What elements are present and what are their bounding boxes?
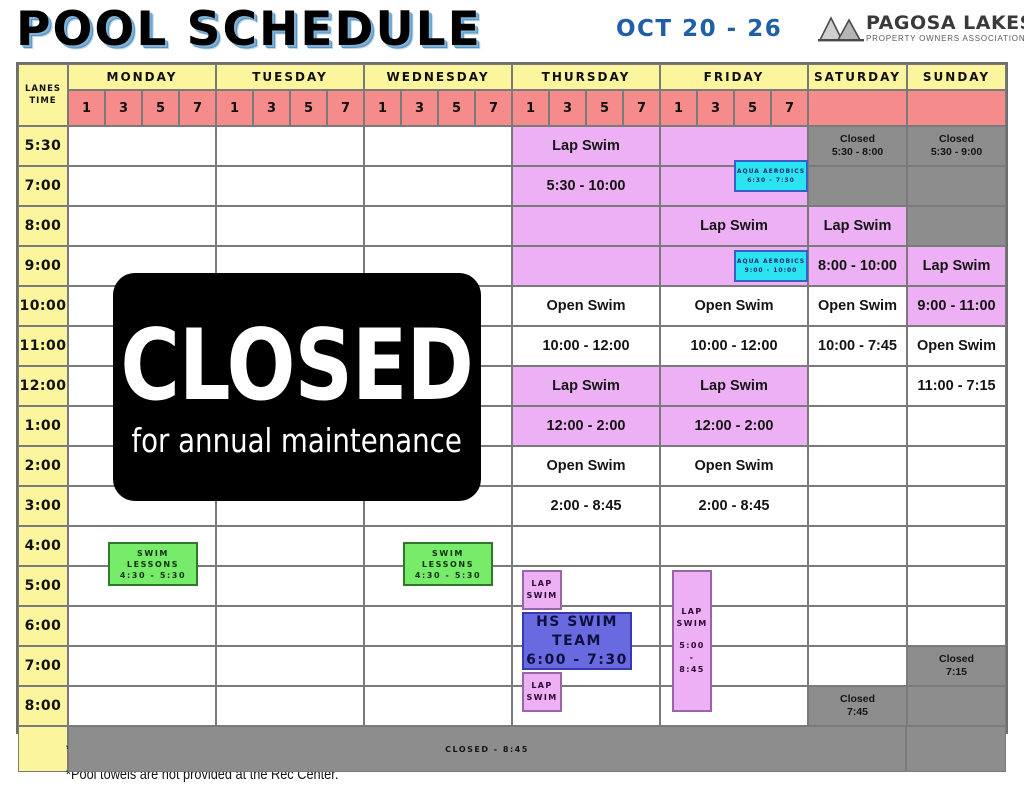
event-lap-swim-friday-evening[interactable]: LAP SWIM 5:00 - 8:45 — [672, 570, 712, 712]
closed-subtitle: for annual maintenance — [132, 422, 462, 460]
saturday-closed-am-label: Closed — [832, 133, 883, 146]
thursday-open-swim-time: 10:00 - 12:00 — [542, 338, 629, 354]
friday-lap-noon-label: Lap Swim — [700, 378, 768, 394]
day-header-friday: FRIDAY — [660, 64, 808, 90]
day-header-tuesday: TUESDAY — [216, 64, 364, 90]
time-label-spacer — [18, 726, 68, 772]
cell-friday-0100[interactable]: 12:00 - 2:00 — [660, 406, 808, 446]
sunday-closed-pm-label: Closed — [939, 653, 974, 666]
time-label-1: 7:00 — [18, 166, 68, 206]
cell-tuesday-0600[interactable] — [216, 606, 364, 646]
thursday-lap-swim-time: 5:30 - 10:00 — [547, 178, 626, 194]
fri-lap-evening-line1: LAP — [681, 606, 702, 618]
sunday-lap-swim-label: Lap Swim — [923, 258, 991, 274]
lane-monday-3: 3 — [105, 90, 142, 126]
corner-label-lanes: LANES — [25, 83, 61, 95]
cell-wednesday-0700pm[interactable] — [364, 646, 512, 686]
lane-wednesday-7: 7 — [475, 90, 512, 126]
lane-tuesday-5: 5 — [290, 90, 327, 126]
lane-friday-5: 5 — [734, 90, 771, 126]
cell-thursday-0700[interactable]: 5:30 - 10:00 — [512, 166, 660, 206]
cell-wednesday-0600[interactable] — [364, 606, 512, 646]
lane-thursday-1: 1 — [512, 90, 549, 126]
cell-sunday-0700pm[interactable]: Closed 7:15 — [907, 646, 1006, 686]
cell-sunday-0400[interactable] — [907, 526, 1006, 566]
cell-sunday-0200[interactable] — [907, 446, 1006, 486]
cell-wednesday-0800[interactable] — [364, 206, 512, 246]
event-swim-lessons-monday[interactable]: SWIM LESSONS 4:30 - 5:30 — [108, 542, 198, 586]
time-label-11: 5:00 — [18, 566, 68, 606]
saturday-open-swim-label: Open Swim — [818, 298, 897, 314]
lanes-time-corner: LANES TIME — [18, 64, 68, 126]
cell-saturday-0200[interactable] — [808, 446, 907, 486]
cell-sunday-0600[interactable] — [907, 606, 1006, 646]
lane-monday-7: 7 — [179, 90, 216, 126]
cell-saturday-0530[interactable]: Closed 5:30 - 8:00 — [808, 126, 907, 166]
sunday-open-swim-time: 11:00 - 7:15 — [917, 378, 995, 394]
cell-sunday-1200[interactable]: 11:00 - 7:15 — [907, 366, 1006, 406]
cell-sunday-0800[interactable] — [907, 206, 1006, 246]
cell-sunday-0800pm[interactable] — [907, 686, 1006, 726]
lane-wednesday-1: 1 — [364, 90, 401, 126]
swim-lessons-mon-line1: SWIM — [137, 548, 169, 559]
thursday-lap-noon-time: 12:00 - 2:00 — [547, 418, 626, 434]
cell-saturday-0700[interactable] — [808, 166, 907, 206]
closed-for-maintenance-banner: CLOSED for annual maintenance — [113, 273, 481, 501]
friday-open-swim-time: 10:00 - 12:00 — [690, 338, 777, 354]
lane-tuesday-1: 1 — [216, 90, 253, 126]
fri-lap-evening-time-start: 5:00 — [679, 640, 705, 652]
thu-lap-early-line2: SWIM — [526, 590, 557, 602]
sunday-lap-swim-time: 9:00 - 11:00 — [917, 298, 995, 314]
friday-open-pm-time: 2:00 - 8:45 — [699, 498, 770, 514]
lane-tuesday-7: 7 — [327, 90, 364, 126]
cell-friday-0200[interactable]: Open Swim — [660, 446, 808, 486]
cell-friday-1200[interactable]: Lap Swim — [660, 366, 808, 406]
swim-lessons-wed-line1: SWIM — [432, 548, 464, 559]
cell-sunday-0300[interactable] — [907, 486, 1006, 526]
swim-lessons-mon-line2: LESSONS — [127, 559, 179, 570]
lane-saturday-none — [808, 90, 907, 126]
page-header: POOL SCHEDULE OCT 20 - 26 PAGOSA LAKES P… — [0, 0, 1024, 62]
time-label-5: 11:00 — [18, 326, 68, 366]
hs-swim-team-time: 6:00 - 7:30 — [526, 651, 628, 670]
fri-lap-evening-time-end: 8:45 — [679, 664, 705, 676]
day-header-saturday: SATURDAY — [808, 64, 907, 90]
cell-monday-0800pm[interactable] — [68, 686, 216, 726]
thursday-lap-swim-label: Lap Swim — [552, 138, 620, 154]
cell-sunday-0530[interactable]: Closed 5:30 - 9:00 — [907, 126, 1006, 166]
day-header-monday: MONDAY — [68, 64, 216, 90]
cell-thursday-0400[interactable] — [512, 526, 660, 566]
cell-saturday-0800pm[interactable]: Closed 7:45 — [808, 686, 907, 726]
time-label-9: 3:00 — [18, 486, 68, 526]
cell-tuesday-0400[interactable] — [216, 526, 364, 566]
hs-swim-team-line1: HS SWIM — [536, 613, 618, 632]
cell-saturday-0500[interactable] — [808, 566, 907, 606]
aqua-aerobics-1-time: 6:30 - 7:30 — [747, 176, 795, 185]
cell-tuesday-0700[interactable] — [216, 166, 364, 206]
thu-lap-late-line1: LAP — [531, 680, 552, 692]
cell-thursday-0100[interactable]: 12:00 - 2:00 — [512, 406, 660, 446]
cell-tuesday-0700pm[interactable] — [216, 646, 364, 686]
closed-bar: CLOSED - 8:45 — [68, 726, 906, 772]
swim-lessons-wed-time: 4:30 - 5:30 — [415, 570, 481, 581]
lane-monday-1: 1 — [68, 90, 105, 126]
cell-sunday-1100[interactable]: Open Swim — [907, 326, 1006, 366]
cell-sunday-0900[interactable]: Lap Swim — [907, 246, 1006, 286]
cell-wednesday-0700[interactable] — [364, 166, 512, 206]
fri-lap-evening-line2: SWIM — [676, 618, 707, 630]
time-label-6: 12:00 — [18, 366, 68, 406]
sunday-closed-am-time: 5:30 - 9:00 — [931, 146, 982, 159]
aqua-aerobics-1-title: AQUA AEROBICS — [737, 167, 805, 176]
cell-saturday-0400[interactable] — [808, 526, 907, 566]
closed-headline: CLOSED — [121, 314, 474, 418]
time-label-0: 5:30 — [18, 126, 68, 166]
time-label-3: 9:00 — [18, 246, 68, 286]
time-label-8: 2:00 — [18, 446, 68, 486]
cell-friday-0400[interactable] — [660, 526, 808, 566]
logo-main-text: PAGOSA LAKES — [866, 12, 1016, 34]
thursday-open-pm-time: 2:00 - 8:45 — [551, 498, 622, 514]
cell-wednesday-0530[interactable] — [364, 126, 512, 166]
mountains-icon — [818, 14, 864, 42]
event-aqua-aerobics-friday-morning[interactable]: AQUA AEROBICS 6:30 - 7:30 — [734, 160, 808, 192]
cell-thursday-0530[interactable]: Lap Swim — [512, 126, 660, 166]
cell-friday-0800[interactable]: Lap Swim — [660, 206, 808, 246]
cell-saturday-0600[interactable] — [808, 606, 907, 646]
friday-lap-swim-label: Lap Swim — [700, 218, 768, 234]
lane-wednesday-3: 3 — [401, 90, 438, 126]
cell-thursday-1000[interactable]: Open Swim — [512, 286, 660, 326]
cell-saturday-0900[interactable]: 8:00 - 10:00 — [808, 246, 907, 286]
logo-text: PAGOSA LAKES PROPERTY OWNERS ASSOCIATION — [866, 12, 1016, 44]
cell-saturday-0800[interactable]: Lap Swim — [808, 206, 907, 246]
corner-label-time: TIME — [29, 95, 56, 107]
cell-saturday-1000[interactable]: Open Swim — [808, 286, 907, 326]
lane-friday-1: 1 — [660, 90, 697, 126]
cell-saturday-0100[interactable] — [808, 406, 907, 446]
lane-thursday-3: 3 — [549, 90, 586, 126]
cell-thursday-0800[interactable] — [512, 206, 660, 246]
saturday-closed-pm-time: 7:45 — [840, 706, 875, 719]
lane-sunday-none — [907, 90, 1006, 126]
cell-saturday-0300[interactable] — [808, 486, 907, 526]
time-label-2: 8:00 — [18, 206, 68, 246]
day-header-wednesday: WEDNESDAY — [364, 64, 512, 90]
saturday-open-swim-time: 10:00 - 7:45 — [818, 338, 897, 354]
aqua-aerobics-2-title: AQUA AEROBICS — [737, 257, 805, 266]
hs-swim-team-line2: TEAM — [552, 632, 602, 651]
cell-friday-1100[interactable]: 10:00 - 12:00 — [660, 326, 808, 366]
date-range: OCT 20 - 26 — [616, 16, 782, 42]
swim-lessons-mon-time: 4:30 - 5:30 — [120, 570, 186, 581]
aqua-aerobics-2-time: 9:00 - 10:00 — [745, 266, 798, 275]
event-swim-lessons-wednesday[interactable]: SWIM LESSONS 4:30 - 5:30 — [403, 542, 493, 586]
cell-sunday-0100[interactable] — [907, 406, 1006, 446]
cell-monday-0530[interactable] — [68, 126, 216, 166]
time-label-13: 7:00 — [18, 646, 68, 686]
sunday-closed-pm-time: 7:15 — [939, 666, 974, 679]
cell-tuesday-0500[interactable] — [216, 566, 364, 606]
cell-wednesday-0800pm[interactable] — [364, 686, 512, 726]
cell-thursday-1100[interactable]: 10:00 - 12:00 — [512, 326, 660, 366]
logo-sub-text: PROPERTY OWNERS ASSOCIATION — [866, 34, 1024, 44]
cell-saturday-1200[interactable] — [808, 366, 907, 406]
cell-tuesday-0800pm[interactable] — [216, 686, 364, 726]
lane-thursday-7: 7 — [623, 90, 660, 126]
thu-lap-early-line1: LAP — [531, 578, 552, 590]
event-aqua-aerobics-friday-9am[interactable]: AQUA AEROBICS 9:00 - 10:00 — [734, 250, 808, 282]
thu-lap-late-line2: SWIM — [526, 692, 557, 704]
thursday-open-swim-label: Open Swim — [547, 298, 626, 314]
friday-open-swim-label: Open Swim — [695, 298, 774, 314]
event-hs-swim-team[interactable]: HS SWIM TEAM 6:00 - 7:30 — [522, 612, 632, 670]
cell-thursday-0900[interactable] — [512, 246, 660, 286]
cell-monday-0800[interactable] — [68, 206, 216, 246]
saturday-closed-am-time: 5:30 - 8:00 — [832, 146, 883, 159]
page-title: POOL SCHEDULE — [16, 2, 482, 58]
lane-monday-5: 5 — [142, 90, 179, 126]
cell-friday-1000[interactable]: Open Swim — [660, 286, 808, 326]
cell-monday-0700[interactable] — [68, 166, 216, 206]
event-lap-swim-thursday-late[interactable]: LAP SWIM — [522, 672, 562, 712]
event-lap-swim-thursday-early[interactable]: LAP SWIM — [522, 570, 562, 610]
fri-lap-evening-time-dash: - — [690, 652, 695, 664]
cell-tuesday-0530[interactable] — [216, 126, 364, 166]
time-label-14: 8:00 — [18, 686, 68, 726]
cell-tuesday-0800[interactable] — [216, 206, 364, 246]
thursday-lap-noon-label: Lap Swim — [552, 378, 620, 394]
time-label-4: 10:00 — [18, 286, 68, 326]
cell-monday-0700pm[interactable] — [68, 646, 216, 686]
cell-saturday-0700pm[interactable] — [808, 646, 907, 686]
cell-thursday-0200[interactable]: Open Swim — [512, 446, 660, 486]
lane-friday-7: 7 — [771, 90, 808, 126]
closed-bar-sunday-tail — [906, 726, 1006, 772]
pagosa-lakes-logo: PAGOSA LAKES PROPERTY OWNERS ASSOCIATION — [818, 12, 1014, 52]
thursday-open-pm-label: Open Swim — [547, 458, 626, 474]
cell-thursday-0300[interactable]: 2:00 - 8:45 — [512, 486, 660, 526]
lane-thursday-5: 5 — [586, 90, 623, 126]
lane-friday-3: 3 — [697, 90, 734, 126]
friday-open-pm-label: Open Swim — [695, 458, 774, 474]
lane-tuesday-3: 3 — [253, 90, 290, 126]
cell-monday-0600[interactable] — [68, 606, 216, 646]
swim-lessons-wed-line2: LESSONS — [422, 559, 474, 570]
cell-sunday-0700[interactable] — [907, 166, 1006, 206]
sunday-closed-am-label: Closed — [931, 133, 982, 146]
time-label-7: 1:00 — [18, 406, 68, 446]
cell-saturday-1100[interactable]: 10:00 - 7:45 — [808, 326, 907, 366]
day-header-thursday: THURSDAY — [512, 64, 660, 90]
saturday-closed-pm-label: Closed — [840, 693, 875, 706]
cell-sunday-1000[interactable]: 9:00 - 11:00 — [907, 286, 1006, 326]
saturday-lap-swim-label: Lap Swim — [824, 218, 892, 234]
time-label-10: 4:00 — [18, 526, 68, 566]
cell-sunday-0500[interactable] — [907, 566, 1006, 606]
cell-friday-0300[interactable]: 2:00 - 8:45 — [660, 486, 808, 526]
sunday-open-swim-label: Open Swim — [917, 338, 996, 354]
day-header-sunday: SUNDAY — [907, 64, 1006, 90]
cell-thursday-1200[interactable]: Lap Swim — [512, 366, 660, 406]
saturday-lap-swim-time: 8:00 - 10:00 — [818, 258, 897, 274]
friday-lap-noon-time: 12:00 - 2:00 — [695, 418, 774, 434]
lane-wednesday-5: 5 — [438, 90, 475, 126]
time-label-12: 6:00 — [18, 606, 68, 646]
